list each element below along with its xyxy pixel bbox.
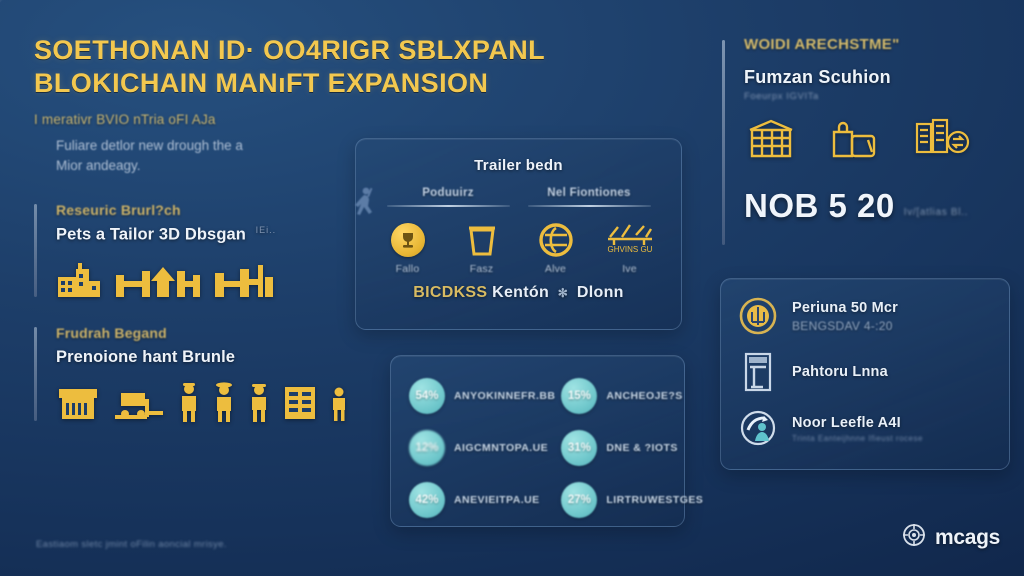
icon-item: Fallo (384, 220, 432, 275)
block-heading-text: Prenoione hant Brunle (56, 348, 235, 366)
forklift-icon (113, 381, 165, 423)
factory-icon (56, 259, 102, 299)
asterisk-icon: ✻ (558, 286, 568, 300)
card-icon-row: Fallo Fasz (356, 220, 681, 275)
right-column: WOIDI ARECHSTME" Fumzan Scuhion Foeurpx … (722, 36, 1010, 225)
stat-label: AIGCMNTOPA.UE (454, 442, 548, 454)
title-lede: Fuliare detlor new drough the a Mior and… (56, 136, 266, 177)
right-card-list: Periuna 50 Mcr BENGSDAV 4-:20 Pahtoru Ln… (720, 278, 1010, 470)
page-title-line-1: SOETHONAN ID· OO4RIGR SBLXPANL (34, 35, 545, 65)
icon-caption: Fasz (458, 263, 506, 275)
stats-grid: 54% ANYOKINNEFR.BB 15% ANCHEOJE?S 12% AI… (391, 356, 684, 518)
stat-item: 27% LIRTRUWESTGES (561, 482, 703, 518)
list-item-title: Pahtoru Lnna (792, 364, 888, 380)
card-column: Nel Fiontiones (528, 187, 651, 207)
card-footer: BICDKSS Kentón ✻ Dlonn (356, 284, 681, 302)
column-underline (387, 205, 510, 207)
right-subheading: Foeurpx IGVITa (744, 91, 1010, 102)
center-card-trailer: Trailer bedn Poduuirz Nel Fiontiones (355, 138, 682, 330)
icon-caption: Fallo (384, 263, 432, 275)
stat-item: 12% AIGCMNTOPA.UE (409, 430, 555, 466)
stat-value-bubble: 31% (561, 430, 597, 466)
worker-icon (213, 381, 235, 423)
right-kicker: WOIDI ARECHSTME" (744, 36, 1010, 53)
warehouse-icon (214, 259, 274, 299)
block-heading-note: IEi.. (256, 225, 277, 235)
person-icon (330, 381, 348, 423)
crate-icon (56, 381, 100, 423)
stat-value-bubble: 12% (409, 430, 445, 466)
stat-value-bubble: 15% (561, 378, 597, 414)
block-icon-row (56, 381, 339, 423)
list-item-text: Pahtoru Lnna (792, 363, 888, 381)
icon-item: Fasz (458, 220, 506, 275)
right-big-number: NOB 5 20 Iv/[atlias Bl.. (744, 187, 1010, 225)
runner-icon (352, 185, 378, 224)
stat-item: 15% ANCHEOJE?S (561, 378, 703, 414)
block-heading: Prenoione hant Brunle (56, 348, 339, 367)
column-underline (528, 205, 651, 207)
stat-label: ANEVIEITPA.UE (454, 494, 540, 506)
big-number-unit: Iv/[atlias Bl.. (904, 207, 968, 225)
list-item[interactable]: Periuna 50 Mcr BENGSDAV 4-:20 (737, 295, 993, 337)
column-label: Poduuirz (387, 187, 510, 199)
trash-bin-icon (458, 220, 506, 260)
stat-label: ANYOKINNEFR.BB (454, 390, 555, 402)
stat-value-bubble: 54% (409, 378, 445, 414)
trophy-disc-icon (384, 220, 432, 260)
card-footer-a: BICDKSS (413, 284, 487, 301)
document-t-icon (737, 351, 779, 393)
infographic-canvas: SOETHONAN ID· OO4RIGR SBLXPANL BLOKICHAI… (0, 0, 1024, 576)
accent-rule (722, 40, 725, 245)
stat-label: ANCHEOJE?S (606, 390, 682, 402)
target-logo-icon (902, 523, 926, 552)
block-icon-row (56, 259, 339, 299)
stat-label: DNE & ?IOTS (606, 442, 677, 454)
worker-icon (248, 381, 270, 423)
person-check-icon (737, 407, 779, 449)
bank-building-icon (748, 118, 794, 165)
bag-box-icon (828, 118, 880, 165)
worker-icon (178, 381, 200, 423)
left-block-industry: Frudrah Begand Prenoione hant Brunle (34, 325, 339, 423)
stat-item: 42% ANEVIEITPA.UE (409, 482, 555, 518)
footer-note: Eastiaom sletc jmint oFilin aoncial mris… (36, 539, 227, 550)
block-heading-text: Pets a Tailor 3D Dbsgan (56, 226, 246, 244)
list-item-text: Periuna 50 Mcr BENGSDAV 4-:20 (792, 299, 898, 333)
stat-item: 54% ANYOKINNEFR.BB (409, 378, 555, 414)
right-list: Periuna 50 Mcr BENGSDAV 4-:20 Pahtoru Ln… (721, 279, 1009, 449)
stat-item: 31% DNE & ?IOTS (561, 430, 703, 466)
card-column-headers: Poduuirz Nel Fiontiones (356, 187, 681, 207)
list-item-micro: Trinta Eanteijhnne Ifieust rocese (792, 434, 923, 443)
block-kicker: Reseuric Brurl?ch (56, 202, 339, 218)
big-number-value: NOB 5 20 (744, 187, 895, 225)
server-exchange-icon (914, 118, 970, 165)
icon-caption: Alve (532, 263, 580, 275)
list-item-text: Noor Leefle A4I Trinta Eanteijhnne Ifieu… (792, 414, 923, 443)
left-block-research: Reseuric Brurl?ch Pets a Tailor 3D Dbsga… (34, 202, 339, 299)
block-kicker: Frudrah Begand (56, 325, 339, 341)
left-column: SOETHONAN ID· OO4RIGR SBLXPANL BLOKICHAI… (34, 34, 339, 423)
card-title: Trailer bedn (356, 157, 681, 174)
title-kicker: I merativr BVIO nTria oFI AJa (34, 112, 339, 127)
bridge-arrow-icon (115, 259, 201, 299)
center-card-stats: 54% ANYOKINNEFR.BB 15% ANCHEOJE?S 12% AI… (390, 355, 685, 527)
icon-item: Alve (532, 220, 580, 275)
icon-caption: Ive (606, 263, 654, 275)
card-footer-c: Dlonn (577, 284, 624, 301)
list-item-title: Noor Leefle A4I (792, 415, 901, 431)
accent-rule (34, 327, 37, 421)
target-coin-icon (737, 295, 779, 337)
globe-disc-icon (532, 220, 580, 260)
stat-value-bubble: 27% (561, 482, 597, 518)
brand-logo: mcags (902, 523, 1000, 552)
stat-value-bubble: 42% (409, 482, 445, 518)
right-icon-row (744, 118, 1010, 165)
server-rack-icon (283, 381, 317, 423)
stat-label: LIRTRUWESTGES (606, 494, 703, 506)
page-title: SOETHONAN ID· OO4RIGR SBLXPANL BLOKICHAI… (34, 34, 339, 100)
brand-name: mcags (935, 526, 1000, 550)
accent-rule (34, 204, 37, 297)
list-item-subtitle: BENGSDAV 4-:20 (792, 319, 898, 333)
icon-item: GHVINS GU Ive (606, 220, 654, 275)
icon-overlabel: GHVINS GU (607, 245, 652, 254)
bench-sign-icon: GHVINS GU (606, 220, 654, 260)
card-footer-b: Kentón (492, 284, 549, 301)
list-item-title: Periuna 50 Mcr (792, 300, 898, 316)
list-item[interactable]: Noor Leefle A4I Trinta Eanteijhnne Ifieu… (737, 407, 993, 449)
page-title-line-2: BLOKICHAIN MANıFT EXPANSION (34, 67, 339, 100)
list-item[interactable]: Pahtoru Lnna (737, 351, 993, 393)
right-heading: Fumzan Scuhion (744, 67, 1010, 88)
card-column: Poduuirz (387, 187, 510, 207)
column-label: Nel Fiontiones (528, 187, 651, 199)
block-heading: Pets a Tailor 3D Dbsgan IEi.. (56, 225, 339, 245)
